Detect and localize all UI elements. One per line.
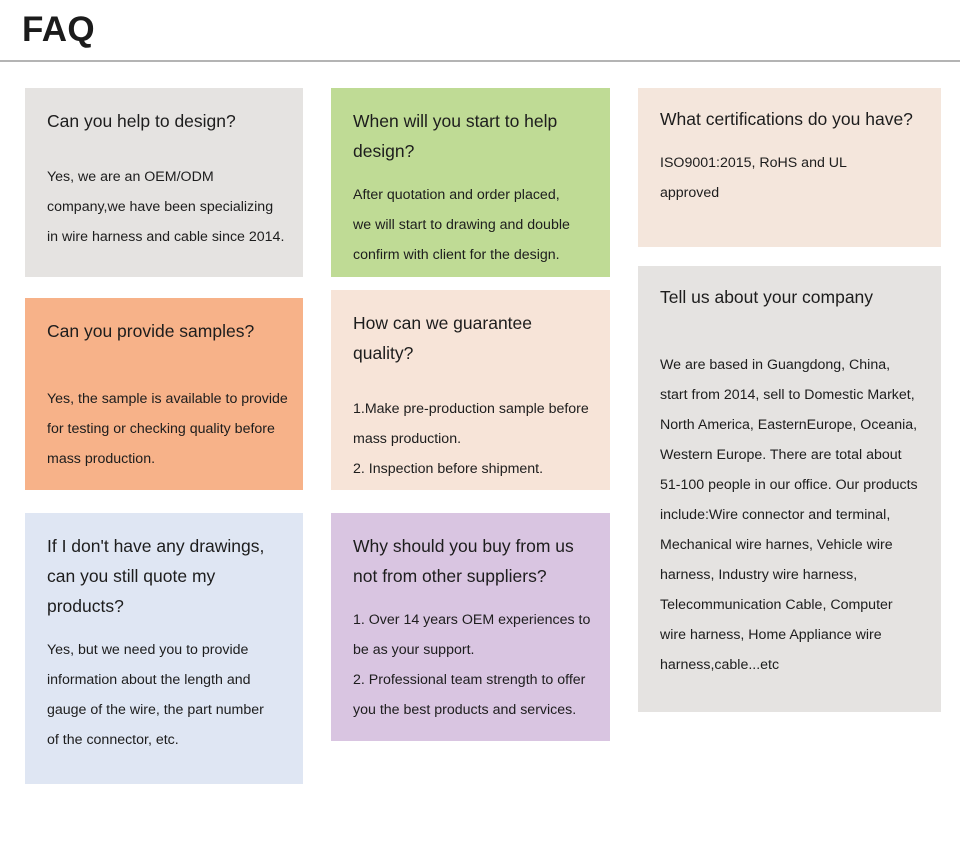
card-tell-us-about-your-company: Tell us about your company We are based … <box>638 266 941 712</box>
faq-answer-line: Yes, the sample is available to provide <box>47 384 281 414</box>
page-title: FAQ <box>22 8 95 52</box>
faq-answer-line: After quotation and order placed, <box>353 180 590 210</box>
faq-answer-line: company,we have been specializing <box>47 192 281 222</box>
card-can-you-help-to-design: Can you help to design? Yes, we are an O… <box>25 88 303 277</box>
faq-answer-line: North America, EasternEurope, Oceania, <box>660 410 921 440</box>
faq-answer: 1. Over 14 years OEM experiences tobe as… <box>353 605 590 725</box>
faq-answer-line: you the best products and services. <box>353 695 590 725</box>
faq-answer: Yes, but we need you to provideinformati… <box>47 635 281 755</box>
card-if-i-dont-have-any-drawings: If I don't have any drawings, can you st… <box>25 513 303 784</box>
faq-answer: After quotation and order placed,we will… <box>353 180 590 270</box>
faq-question: When will you start to help design? <box>353 106 590 166</box>
faq-answer: Yes, we are an OEM/ODMcompany,we have be… <box>47 162 281 252</box>
title-divider <box>0 60 960 62</box>
faq-answer-line: start from 2014, sell to Domestic Market… <box>660 380 921 410</box>
faq-answer-line: ISO9001:2015, RoHS and UL <box>660 148 921 178</box>
faq-question: Can you help to design? <box>47 106 281 136</box>
faq-answer-line: we will start to drawing and double <box>353 210 590 240</box>
faq-answer-line: harness,cable...etc <box>660 650 921 680</box>
faq-answer-line: approved <box>660 178 921 208</box>
faq-answer-line: Yes, but we need you to provide <box>47 635 281 665</box>
faq-answer-line: include:Wire connector and terminal, <box>660 500 921 530</box>
faq-answer-line: information about the length and <box>47 665 281 695</box>
faq-answer: 1.Make pre-production sample beforemass … <box>353 394 590 484</box>
faq-question: What certifications do you have? <box>660 104 921 134</box>
card-can-you-provide-samples: Can you provide samples? Yes, the sample… <box>25 298 303 490</box>
faq-answer-line: for testing or checking quality before <box>47 414 281 444</box>
faq-answer-line: in wire harness and cable since 2014. <box>47 222 281 252</box>
faq-answer-line: harness, Industry wire harness, <box>660 560 921 590</box>
faq-question: Can you provide samples? <box>47 316 281 346</box>
faq-answer-line: 2. Professional team strength to offer <box>353 665 590 695</box>
faq-answer-line: Mechanical wire harnes, Vehicle wire <box>660 530 921 560</box>
card-how-can-we-guarantee-quality: How can we guarantee quality? 1.Make pre… <box>331 290 610 490</box>
faq-answer: Yes, the sample is available to providef… <box>47 384 281 474</box>
faq-question: Tell us about your company <box>660 282 921 312</box>
faq-answer-line: Western Europe. There are total about <box>660 440 921 470</box>
faq-question: Why should you buy from us not from othe… <box>353 531 590 591</box>
faq-answer-line: Yes, we are an OEM/ODM <box>47 162 281 192</box>
faq-answer-line: of the connector, etc. <box>47 725 281 755</box>
faq-answer-line: wire harness, Home Appliance wire <box>660 620 921 650</box>
faq-answer: We are based in Guangdong, China,start f… <box>660 350 921 680</box>
faq-answer-line: Telecommunication Cable, Computer <box>660 590 921 620</box>
faq-answer-line: mass production. <box>353 424 590 454</box>
faq-question: If I don't have any drawings, can you st… <box>47 531 281 621</box>
card-what-certifications-do-you-have: What certifications do you have? ISO9001… <box>638 88 941 247</box>
faq-question: How can we guarantee quality? <box>353 308 590 368</box>
faq-answer-line: 1. Over 14 years OEM experiences to <box>353 605 590 635</box>
faq-answer-line: 1.Make pre-production sample before <box>353 394 590 424</box>
faq-page: FAQ Can you help to design? Yes, we are … <box>0 0 960 842</box>
card-why-should-you-buy-from-us: Why should you buy from us not from othe… <box>331 513 610 741</box>
faq-answer-line: be as your support. <box>353 635 590 665</box>
faq-answer: ISO9001:2015, RoHS and ULapproved <box>660 148 921 208</box>
faq-answer-line: 2. Inspection before shipment. <box>353 454 590 484</box>
faq-answer-line: 51-100 people in our office. Our product… <box>660 470 921 500</box>
faq-answer-line: We are based in Guangdong, China, <box>660 350 921 380</box>
card-when-will-you-start-to-help-design: When will you start to help design? Afte… <box>331 88 610 277</box>
faq-answer-line: mass production. <box>47 444 281 474</box>
faq-answer-line: gauge of the wire, the part number <box>47 695 281 725</box>
faq-answer-line: confirm with client for the design. <box>353 240 590 270</box>
